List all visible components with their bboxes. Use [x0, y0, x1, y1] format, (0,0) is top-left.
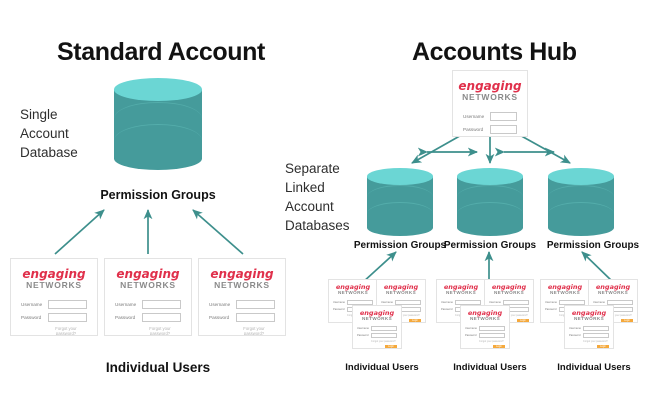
- password-input[interactable]: [48, 313, 87, 322]
- db-ring-2: [548, 202, 614, 226]
- forgot-password-link[interactable]: Forgot your password?: [233, 326, 275, 336]
- username-row: Username: [357, 326, 397, 331]
- right-panel-title: Accounts Hub: [412, 38, 577, 67]
- username-input[interactable]: [479, 326, 505, 331]
- username-row: Username: [569, 326, 609, 331]
- logo-word-networks: NETWORKS: [444, 291, 478, 296]
- db-top: [548, 168, 614, 185]
- password-label: Password: [441, 308, 453, 311]
- right-note-line-3: Account: [285, 197, 350, 216]
- username-row: Username: [463, 112, 517, 121]
- logo-word-engaging: engaging: [210, 268, 273, 280]
- individual-users-label-standard: Individual Users: [88, 360, 228, 375]
- engaging-networks-logo: engaging NETWORKS: [116, 268, 179, 290]
- logo-word-engaging: engaging: [458, 80, 521, 92]
- logo-word-engaging: engaging: [22, 268, 85, 280]
- login-card-cluster2-3[interactable]: engaging NETWORKS Username Password Forg…: [460, 305, 510, 349]
- logo-word-networks: NETWORKS: [116, 281, 179, 290]
- logo-word-networks: NETWORKS: [360, 317, 394, 322]
- diagram-canvas: Standard Account Single Account Database…: [0, 0, 650, 400]
- permission-groups-label-standard: Permission Groups: [88, 188, 228, 202]
- logo-word-networks: NETWORKS: [384, 291, 418, 296]
- username-label: Username: [357, 327, 369, 330]
- database-standard-account: [114, 78, 202, 176]
- left-panel-note: Single Account Database: [20, 105, 78, 162]
- login-button[interactable]: Login: [597, 345, 609, 349]
- username-row: Username: [465, 326, 505, 331]
- password-row: Password: [21, 313, 87, 322]
- username-row: Username: [21, 300, 87, 309]
- right-note-line-1: Separate: [285, 159, 350, 178]
- engaging-networks-logo: engaging NETWORKS: [596, 284, 630, 295]
- login-form: Username Password Forgot your password?: [115, 300, 181, 336]
- left-note-line-3: Database: [20, 143, 78, 162]
- username-input[interactable]: [142, 300, 181, 309]
- logo-word-networks: NETWORKS: [336, 291, 370, 296]
- engaging-networks-logo: engaging NETWORKS: [572, 310, 606, 321]
- db-ring-2: [457, 202, 523, 226]
- login-card-cluster1-3[interactable]: engaging NETWORKS Username Password Forg…: [352, 305, 402, 349]
- user-cluster-2: engaging NETWORKS Username Password Forg…: [436, 279, 544, 351]
- engaging-networks-logo: engaging NETWORKS: [360, 310, 394, 321]
- password-row: Password: [465, 333, 505, 338]
- login-form: Username Password Forgot your password?: [209, 300, 275, 336]
- forgot-password-link[interactable]: Forgot your password?: [582, 340, 609, 343]
- database-hub-2: [457, 168, 523, 240]
- password-row: Password: [569, 333, 609, 338]
- user-cluster-1: engaging NETWORKS Username Password Forg…: [328, 279, 436, 351]
- engaging-networks-logo: engaging NETWORKS: [458, 80, 521, 102]
- username-label: Username: [441, 301, 453, 304]
- login-card-accounts-hub[interactable]: engaging NETWORKS Username Password Forg…: [452, 70, 528, 137]
- db-top: [457, 168, 523, 185]
- login-form: Username Password Forgot your password?: [21, 300, 87, 336]
- username-label: Username: [333, 301, 345, 304]
- logo-word-engaging: engaging: [116, 268, 179, 280]
- login-form: Username Password Forgot your password?: [465, 326, 505, 343]
- username-label: Username: [545, 301, 557, 304]
- right-note-line-4: Databases: [285, 216, 350, 235]
- individual-users-label-hub-1: Individual Users: [322, 362, 442, 373]
- permission-groups-label-hub-3: Permission Groups: [528, 240, 650, 251]
- individual-users-label-hub-3: Individual Users: [534, 362, 650, 373]
- db-top: [114, 78, 202, 101]
- password-label: Password: [465, 334, 477, 337]
- login-form: Username Password Forgot your password?: [463, 112, 517, 138]
- database-hub-3: [548, 168, 614, 240]
- username-label: Username: [21, 302, 43, 307]
- username-label: Username: [381, 301, 393, 304]
- engaging-networks-logo: engaging NETWORKS: [492, 284, 526, 295]
- arrow-users-to-db-left: [55, 210, 243, 254]
- login-card-standard-2[interactable]: engaging NETWORKS Username Password Forg…: [104, 258, 192, 336]
- password-input[interactable]: [583, 333, 609, 338]
- password-input[interactable]: [142, 313, 181, 322]
- username-row: Username: [209, 300, 275, 309]
- logo-word-networks: NETWORKS: [210, 281, 273, 290]
- arrow-hub-to-databases: [412, 133, 570, 163]
- login-form: Username Password Forgot your password?: [357, 326, 397, 343]
- forgot-password-link[interactable]: Forgot your password?: [45, 326, 87, 336]
- logo-word-networks: NETWORKS: [596, 291, 630, 296]
- engaging-networks-logo: engaging NETWORKS: [548, 284, 582, 295]
- password-input[interactable]: [479, 333, 505, 338]
- username-label: Username: [209, 302, 231, 307]
- password-row: Password: [463, 125, 517, 134]
- login-card-cluster3-3[interactable]: engaging NETWORKS Username Password Forg…: [564, 305, 614, 349]
- logo-word-networks: NETWORKS: [22, 281, 85, 290]
- password-row: Password: [115, 313, 181, 322]
- database-hub-1: [367, 168, 433, 240]
- password-row: Password: [357, 333, 397, 338]
- password-label: Password: [545, 308, 557, 311]
- left-panel-title: Standard Account: [57, 38, 265, 67]
- username-row: Username: [115, 300, 181, 309]
- login-button[interactable]: Login: [621, 319, 633, 323]
- password-input[interactable]: [236, 313, 275, 322]
- engaging-networks-logo: engaging NETWORKS: [468, 310, 502, 321]
- username-label: Username: [593, 301, 605, 304]
- forgot-password-link[interactable]: Forgot your password?: [370, 340, 397, 343]
- engaging-networks-logo: engaging NETWORKS: [336, 284, 370, 295]
- login-button[interactable]: Login: [517, 319, 529, 323]
- forgot-password-link[interactable]: Forgot your password?: [139, 326, 181, 336]
- password-input[interactable]: [490, 125, 517, 134]
- right-panel-note: Separate Linked Account Databases: [285, 159, 350, 235]
- login-card-standard-1[interactable]: engaging NETWORKS Username Password Forg…: [10, 258, 98, 336]
- password-row: Password: [209, 313, 275, 322]
- password-label: Password: [209, 315, 231, 320]
- user-cluster-3: engaging NETWORKS Username Password Forg…: [540, 279, 648, 351]
- username-label: Username: [569, 327, 581, 330]
- username-label: Username: [115, 302, 137, 307]
- engaging-networks-logo: engaging NETWORKS: [210, 268, 273, 290]
- username-label: Username: [465, 327, 477, 330]
- left-note-line-1: Single: [20, 105, 78, 124]
- password-label: Password: [21, 315, 43, 320]
- engaging-networks-logo: engaging NETWORKS: [444, 284, 478, 295]
- logo-word-networks: NETWORKS: [492, 291, 526, 296]
- engaging-networks-logo: engaging NETWORKS: [384, 284, 418, 295]
- login-button[interactable]: Login: [385, 345, 397, 349]
- logo-word-networks: NETWORKS: [572, 317, 606, 322]
- login-form: Username Password Forgot your password?: [569, 326, 609, 343]
- username-label: Username: [489, 301, 501, 304]
- password-label: Password: [463, 127, 485, 132]
- right-note-line-2: Linked: [285, 178, 350, 197]
- logo-word-networks: NETWORKS: [468, 317, 502, 322]
- username-input[interactable]: [583, 326, 609, 331]
- password-label: Password: [569, 334, 581, 337]
- logo-word-networks: NETWORKS: [548, 291, 582, 296]
- engaging-networks-logo: engaging NETWORKS: [22, 268, 85, 290]
- db-top: [367, 168, 433, 185]
- username-input[interactable]: [236, 300, 275, 309]
- password-label: Password: [357, 334, 369, 337]
- password-input[interactable]: [371, 333, 397, 338]
- db-ring-2: [367, 202, 433, 226]
- login-button[interactable]: Login: [409, 319, 421, 323]
- login-card-standard-3[interactable]: engaging NETWORKS Username Password Forg…: [198, 258, 286, 336]
- left-note-line-2: Account: [20, 124, 78, 143]
- username-input[interactable]: [48, 300, 87, 309]
- username-input[interactable]: [371, 326, 397, 331]
- password-label: Password: [115, 315, 137, 320]
- username-input[interactable]: [490, 112, 517, 121]
- login-button[interactable]: Login: [493, 345, 505, 349]
- username-label: Username: [463, 114, 485, 119]
- password-label: Password: [333, 308, 345, 311]
- individual-users-label-hub-2: Individual Users: [430, 362, 550, 373]
- forgot-password-link[interactable]: Forgot your password?: [478, 340, 505, 343]
- logo-word-networks: NETWORKS: [458, 93, 521, 102]
